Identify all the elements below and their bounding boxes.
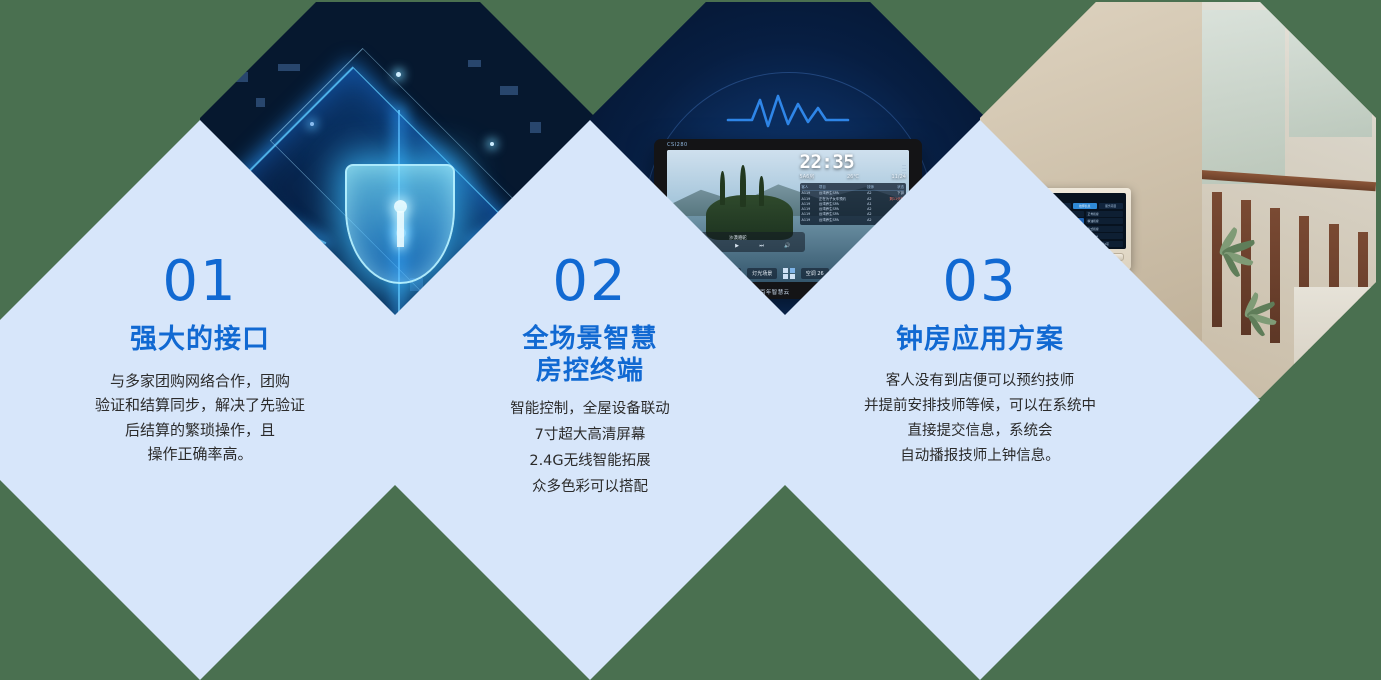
room-label: 5A6房 — [800, 173, 815, 180]
card-description: 与多家团购网络合作，团购 验证和结算同步，解决了先验证 后结算的繁琐操作，且 操… — [95, 369, 305, 466]
card-number: 01 — [162, 254, 237, 310]
col-status: 状态 — [885, 185, 904, 190]
apps-grid-icon[interactable] — [783, 268, 795, 280]
card-description: 客人没有到店便可以预约技师 并提前安排技师等候，可以在系统中 直接提交信息，系统… — [864, 369, 1096, 469]
panel-tab[interactable]: 技师信息 — [1073, 203, 1097, 209]
panel-service-item[interactable]: 精油按摩 — [1086, 218, 1123, 224]
play-icon[interactable]: ▶ — [735, 243, 739, 249]
card-title: 强大的接口 — [130, 324, 270, 357]
side-control-label: ││││ — [902, 164, 906, 176]
card-title: 钟房应用方案 — [896, 324, 1064, 357]
wallpaper-tree — [720, 171, 725, 205]
panel-tab[interactable]: 服务项目 — [1099, 203, 1123, 209]
wallpaper-tree — [740, 165, 746, 207]
key-stem-icon — [397, 211, 404, 247]
col-guest: 客人 — [802, 185, 819, 190]
card-description: 智能控制，全屋设备联动 7寸超大高清屏幕 2.4G无线智能拓展 众多色彩可以搭配 — [510, 397, 670, 500]
diamond-feature-layout: CSI280 22:35 5A6房 26℃ 11/24 — [0, 0, 1381, 603]
pulse-wave-icon — [726, 90, 850, 136]
col-item: 项目 — [819, 185, 867, 190]
card-number: 02 — [552, 254, 627, 310]
clock-time: 22:35 — [800, 153, 906, 172]
wallpaper-tree — [759, 176, 764, 206]
card-number: 03 — [942, 254, 1017, 310]
panel-service-item[interactable]: 正骨按摩 — [1086, 211, 1123, 217]
clock-meta: 5A6房 26℃ 11/24 — [800, 173, 906, 180]
room-floor — [1294, 287, 1376, 398]
temperature-label: 26℃ — [847, 174, 859, 180]
cell-guest: A119 — [802, 218, 819, 223]
room-background — [1194, 2, 1376, 398]
next-icon[interactable]: ⏭ — [759, 243, 764, 249]
card-title: 全场景智慧 房控终端 — [522, 324, 657, 387]
cell-item: 台湾养生SPA — [819, 218, 867, 223]
tablet-brand-label: CSI280 — [667, 142, 688, 148]
feature-card-3-content: 03 钟房应用方案 客人没有到店便可以预约技师 并提前安排技师等候，可以在系统中… — [782, 202, 1178, 598]
col-tech: 技师 — [867, 185, 884, 190]
bottom-item-light[interactable]: 灯光场景 — [747, 268, 777, 279]
volume-icon[interactable]: 🔊 — [784, 243, 790, 249]
